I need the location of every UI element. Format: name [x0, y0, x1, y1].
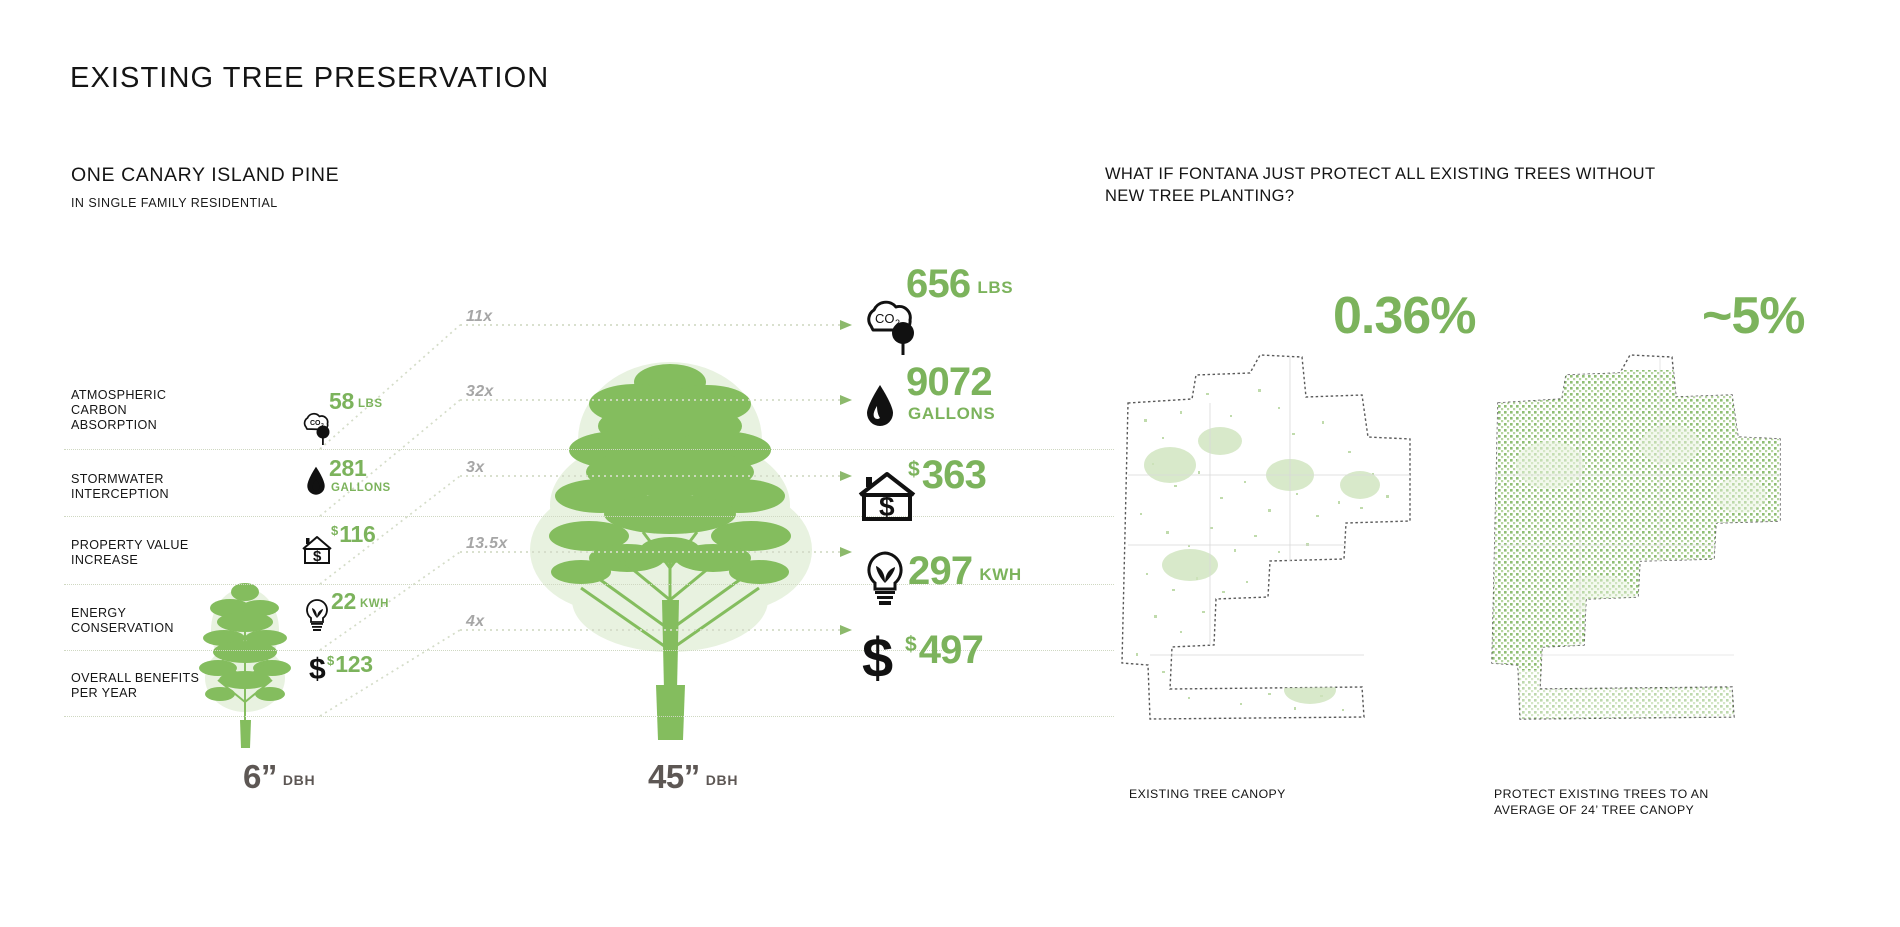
- small-value-row-4: 22KWH: [331, 588, 389, 615]
- small-tree-dbh-caption: 6”DBH: [243, 758, 315, 796]
- large-unit-row-2: GALLONS: [908, 404, 995, 424]
- protected-canopy-percent: ~5%: [1702, 286, 1805, 346]
- dollar-sign-icon: $: [309, 655, 326, 685]
- co2-cloud-tree-icon: CO 2: [298, 410, 332, 446]
- multiplier-row-4: 13.5x: [466, 535, 508, 553]
- svg-text:$: $: [313, 548, 322, 565]
- svg-text:$: $: [879, 491, 895, 522]
- large-value-row-5: $497: [905, 628, 983, 673]
- multiplier-row-2: 32x: [466, 383, 494, 401]
- large-tree-dbh-caption: 45”DBH: [648, 758, 738, 796]
- lightbulb-leaf-icon-large: [860, 550, 910, 608]
- multiplier-row-5: 4x: [466, 613, 484, 631]
- house-dollar-icon: $: [300, 534, 334, 566]
- large-value-row-1: 656LBS: [906, 262, 1013, 307]
- water-droplet-icon-large: [862, 382, 898, 430]
- water-droplet-icon: [305, 466, 327, 498]
- protected-tree-canopy-map: [1480, 345, 1810, 745]
- map-caption-protected: PROTECT EXISTING TREES TO AN AVERAGE OF …: [1494, 786, 1709, 818]
- large-value-row-4: 297KWH: [908, 549, 1022, 594]
- map-caption-existing: EXISTING TREE CANOPY: [1129, 786, 1286, 802]
- small-value-row-1: 58LBS: [329, 388, 382, 415]
- svg-text:CO: CO: [310, 420, 321, 427]
- small-value-row-2: 281: [329, 455, 366, 482]
- existing-canopy-percent: 0.36%: [1333, 286, 1475, 346]
- large-value-row-2: 9072: [906, 360, 992, 405]
- existing-tree-canopy-map: [1110, 345, 1440, 745]
- small-value-row-5: $123: [327, 651, 373, 678]
- svg-text:CO: CO: [875, 311, 895, 326]
- small-unit-row-2: GALLONS: [331, 482, 391, 494]
- large-value-row-3: $363: [908, 453, 986, 498]
- infographic-canvas: EXISTING TREE PRESERVATION ONE CANARY IS…: [0, 0, 1900, 927]
- small-value-row-3: $116: [331, 521, 375, 548]
- multiplier-row-1: 11x: [466, 308, 492, 326]
- dollar-sign-icon-large: $: [862, 630, 893, 686]
- multiplier-row-3: 3x: [466, 459, 484, 477]
- lightbulb-leaf-icon: [302, 598, 332, 634]
